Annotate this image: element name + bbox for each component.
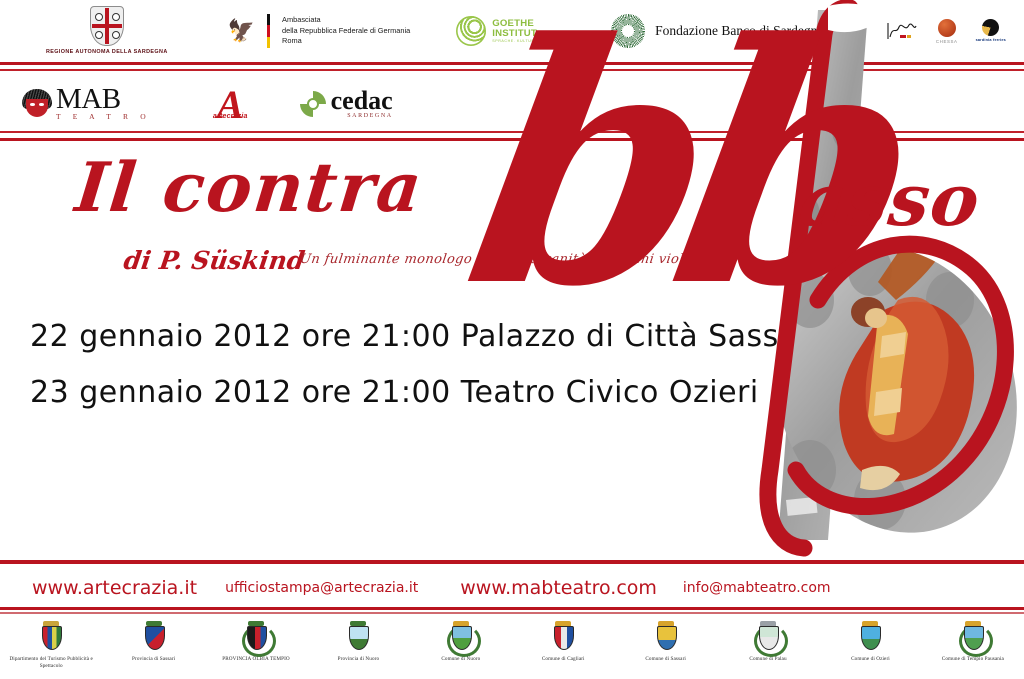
comune-sassari-crest-icon [651, 620, 681, 654]
mab-subtitle: T E A T R O [56, 112, 151, 121]
mab-word: MAB [56, 87, 151, 112]
crest-item[interactable]: Comune di Nuoro [410, 616, 512, 663]
crest-item[interactable]: Comune di Sassari [614, 616, 716, 663]
crest-caption: Comune di Nuoro [441, 656, 480, 663]
footer-links: www.artecrazia.it ufficiostampa@artecraz… [0, 570, 1024, 606]
link-artecrazia-site[interactable]: www.artecrazia.it [32, 577, 197, 599]
ministry-crest-icon [36, 620, 66, 654]
crest-caption: Provincia di Sassari [132, 656, 175, 663]
crest-item[interactable]: Provincia di Nuoro [307, 616, 409, 663]
municipal-crest-row: Dipartimento del Turismo Pubblicità e Sp… [0, 616, 1024, 679]
sponsor-mab-teatro[interactable]: MAB T E A T R O [22, 87, 151, 121]
crest-item[interactable]: Dipartimento del Turismo Pubblicità e Sp… [0, 616, 102, 669]
ambasciata-line-3: Roma [282, 36, 410, 47]
event-date-line: 23 gennaio 2012 ore 21:00 Teatro Civico … [30, 378, 790, 408]
sardinia-four-moors-shield-icon [90, 6, 124, 46]
cedac-word: cedac [331, 89, 393, 112]
cedac-knot-icon [300, 91, 326, 117]
footer-rule-bottom [0, 607, 1024, 610]
poster-canvas: REGIONE AUTONOMA DELLA SARDEGNA 🦅 Ambasc… [0, 0, 1024, 679]
artecrazia-subtitle: artecrazia [213, 113, 248, 120]
crest-caption: Comune di Tempio Pausania [942, 656, 1004, 663]
crest-caption: Comune di Sassari [645, 656, 686, 663]
crest-item[interactable]: PROVINCIA OLBIA TEMPIO [205, 616, 307, 663]
sponsor-regione-sardegna[interactable]: REGIONE AUTONOMA DELLA SARDEGNA [46, 6, 168, 55]
mab-mask-face-icon [22, 89, 52, 119]
sponsor-regione-sardegna-caption: REGIONE AUTONOMA DELLA SARDEGNA [46, 49, 168, 55]
crest-caption: Dipartimento del Turismo Pubblicità e Sp… [0, 656, 102, 669]
german-flag-bar-icon [267, 14, 270, 48]
crest-caption: Comune di Cagliari [542, 656, 585, 663]
provincia-olbia-tempio-crest-icon [241, 620, 271, 654]
sponsor-cedac[interactable]: cedac SARDEGNA [300, 89, 393, 118]
comune-tempio-pausania-crest-icon [958, 620, 988, 654]
provincia-nuoro-crest-icon [343, 620, 373, 654]
crest-item[interactable]: Comune di Palau [717, 616, 819, 663]
sponsor-artecrazia[interactable]: A artecrazia [213, 89, 248, 120]
link-artecrazia-email[interactable]: ufficiostampa@artecrazia.it [225, 580, 418, 596]
title-author: di P. Süskind [122, 246, 307, 275]
comune-nuoro-crest-icon [446, 620, 476, 654]
ambasciata-line-1: Ambasciata [282, 15, 410, 26]
crest-item[interactable]: Provincia di Sassari [102, 616, 204, 663]
crest-item[interactable]: Comune di Tempio Pausania [922, 616, 1024, 663]
footer-rule-top [0, 560, 1024, 564]
goethe-spiral-icon [456, 16, 486, 46]
crest-item[interactable]: Comune di Ozieri [819, 616, 921, 663]
crest-caption: Comune di Palau [749, 656, 786, 663]
crest-item[interactable]: Comune di Cagliari [512, 616, 614, 663]
sponsor-ambasciata-text: Ambasciata della Repubblica Federale di … [282, 15, 410, 47]
ambasciata-line-2: della Repubblica Federale di Germania [282, 26, 410, 37]
link-mabteatro-email[interactable]: info@mabteatro.com [683, 580, 831, 596]
footer-rule-bottom-light [0, 612, 1024, 614]
page-title-part-3: asso [796, 164, 983, 236]
comune-palau-crest-icon [753, 620, 783, 654]
crest-caption: Provincia di Nuoro [338, 656, 380, 663]
comune-cagliari-crest-icon [548, 620, 578, 654]
german-eagle-icon: 🦅 [228, 20, 255, 42]
sponsor-ambasciata-germania[interactable]: 🦅 Ambasciata della Repubblica Federale d… [228, 14, 411, 48]
provincia-sassari-crest-icon [139, 620, 169, 654]
comune-ozieri-crest-icon [855, 620, 885, 654]
crest-caption: Comune di Ozieri [851, 656, 890, 663]
link-mabteatro-site[interactable]: www.mabteatro.com [460, 577, 657, 599]
crest-caption: PROVINCIA OLBIA TEMPIO [222, 656, 290, 663]
page-title-part-1: Il contra [72, 154, 426, 222]
